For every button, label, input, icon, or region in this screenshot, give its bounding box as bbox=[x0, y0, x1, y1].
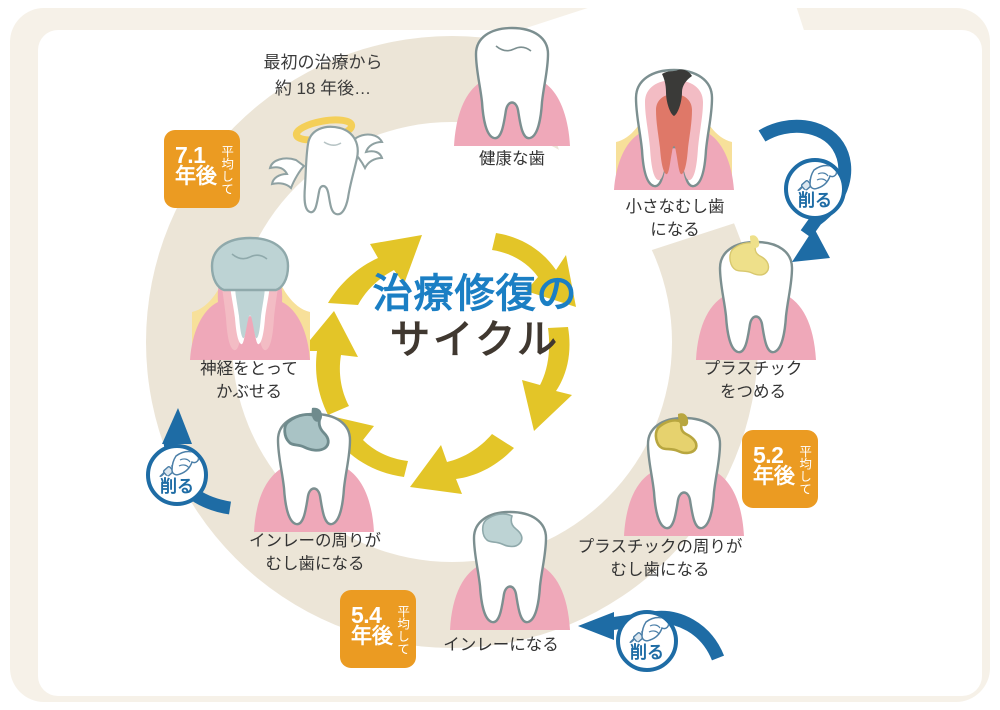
badge-5-2-years: 5.2 年後 平均して bbox=[742, 430, 818, 508]
badge-average-label: 平均して bbox=[219, 145, 232, 195]
center-title-line2: サイクル bbox=[330, 318, 620, 364]
tooth-healthy bbox=[452, 18, 572, 148]
stage-label-line: をつめる bbox=[678, 381, 828, 404]
treatment-icon-drill-1[interactable]: 削る bbox=[784, 158, 846, 220]
tooth-lost-angel bbox=[262, 110, 394, 220]
stage-label-cavity-around-plastic: プラスチックの周りが むし歯になる bbox=[556, 536, 764, 583]
tooth-crown-nerve-removed bbox=[188, 228, 314, 362]
badge-unit: 年後 bbox=[753, 466, 795, 488]
treatment-icon-drill-3[interactable]: 削る bbox=[616, 610, 678, 672]
badge-average-label: 平均して bbox=[797, 445, 810, 495]
stage-label-line: インレーの周りが bbox=[222, 530, 408, 553]
treatment-icon-label: 削る bbox=[788, 186, 842, 211]
treatment-icon-label: 削る bbox=[620, 638, 674, 663]
first-treatment-note: 最初の治療から 約 18 年後… bbox=[238, 50, 408, 101]
badge-number: 7.1 bbox=[175, 144, 205, 167]
badge-unit: 年後 bbox=[351, 626, 393, 648]
badge-number: 5.2 bbox=[753, 444, 783, 467]
stage-label-line: むし歯になる bbox=[222, 553, 408, 576]
tooth-inlay bbox=[448, 498, 572, 632]
first-treatment-note-line2: 約 18 年後… bbox=[238, 76, 408, 102]
treatment-icon-label: 削る bbox=[150, 472, 204, 497]
badge-5-4-years: 5.4 年後 平均して bbox=[340, 590, 416, 668]
badge-number: 5.4 bbox=[351, 604, 381, 627]
tooth-small-cavity bbox=[612, 58, 736, 192]
tooth-cavity-around-inlay bbox=[252, 400, 376, 534]
center-title-line1: 治療修復の bbox=[330, 272, 620, 318]
stage-label-line: 小さなむし歯 bbox=[594, 196, 756, 219]
stage-label-line: プラスチック bbox=[678, 358, 828, 381]
stage-label-line: 神経をとって bbox=[166, 358, 332, 381]
stage-label-healthy-tooth: 健康な歯 bbox=[434, 148, 590, 171]
center-title: 治療修復の サイクル bbox=[330, 272, 620, 363]
badge-unit: 年後 bbox=[175, 166, 217, 188]
treatment-icon-drill-2[interactable]: 削る bbox=[146, 444, 208, 506]
stage-label-cavity-around-inlay: インレーの周りが むし歯になる bbox=[222, 530, 408, 577]
stage-label-line: プラスチックの周りが bbox=[556, 536, 764, 559]
first-treatment-note-line1: 最初の治療から bbox=[238, 50, 408, 76]
stage-label-line: むし歯になる bbox=[556, 559, 764, 582]
badge-7-1-years: 7.1 年後 平均して bbox=[164, 130, 240, 208]
badge-average-label: 平均して bbox=[395, 605, 408, 655]
stage-label-plastic-filling: プラスチック をつめる bbox=[678, 358, 828, 405]
tooth-cavity-around-plastic bbox=[622, 404, 746, 538]
stage-label-line: 健康な歯 bbox=[434, 148, 590, 171]
